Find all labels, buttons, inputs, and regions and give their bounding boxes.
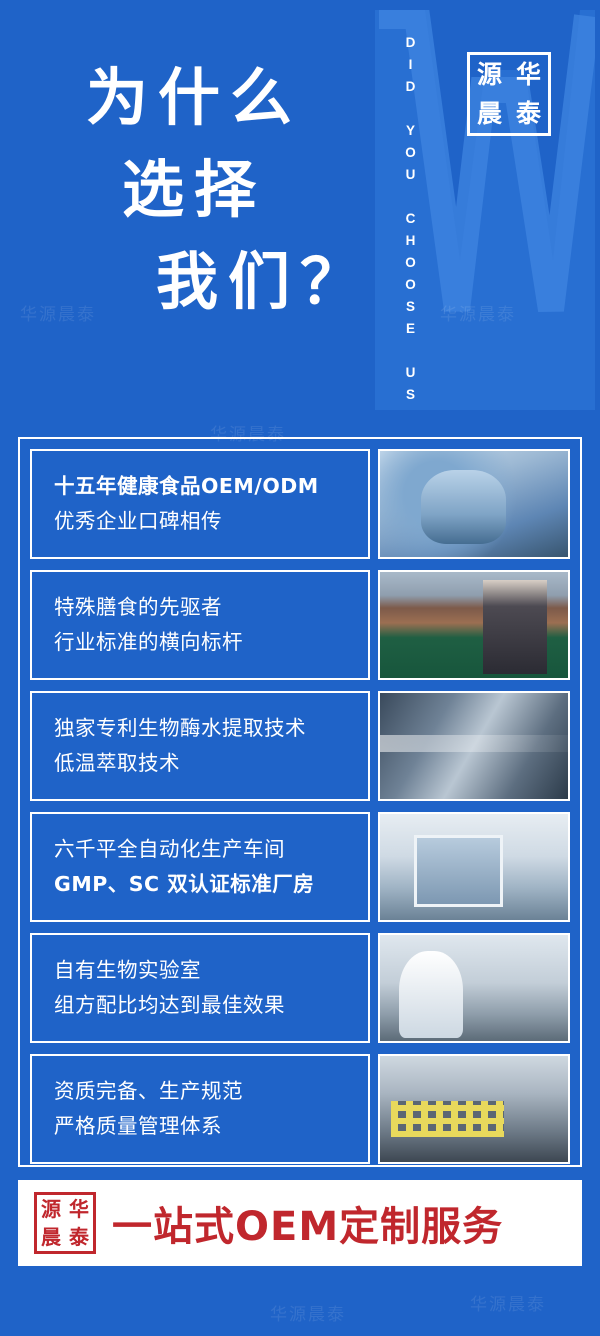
feature-row: 独家专利生物酶水提取技术 低温萃取技术	[30, 691, 570, 801]
seal-char-4: 泰	[516, 101, 541, 126]
vertical-char: Y	[398, 120, 424, 142]
feature-line-2: 优秀企业口碑相传	[54, 504, 368, 539]
vertical-char: O	[398, 274, 424, 296]
footer-banner: 华 源 晨 泰 一站式OEM定制服务	[18, 1180, 582, 1266]
vertical-char: E	[398, 318, 424, 340]
feature-text: 自有生物实验室 组方配比均达到最佳效果	[30, 933, 370, 1043]
photo-conference	[380, 572, 568, 678]
vertical-char: C	[398, 208, 424, 230]
page-title: 为什么 选择 我们？	[86, 52, 386, 327]
title-line-2: 选择	[122, 144, 386, 236]
features-panel: 十五年健康食品OEM/ODM 优秀企业口碑相传 特殊膳食的先驱者 行业标准的横向…	[18, 437, 582, 1167]
feature-line-2: 组方配比均达到最佳效果	[54, 988, 368, 1023]
feature-line-2: 低温萃取技术	[54, 746, 368, 781]
feature-row: 自有生物实验室 组方配比均达到最佳效果	[30, 933, 570, 1043]
vertical-char: O	[398, 142, 424, 164]
vertical-char: U	[398, 362, 424, 384]
feature-photo	[378, 570, 570, 680]
feature-line-1: 自有生物实验室	[54, 953, 368, 988]
seal-char-2: 源	[477, 62, 502, 87]
title-line-1: 为什么	[86, 52, 386, 144]
photo-biology-lab	[380, 935, 568, 1041]
feature-text: 十五年健康食品OEM/ODM 优秀企业口碑相传	[30, 449, 370, 559]
vertical-char: U	[398, 164, 424, 186]
feature-line-1: 十五年健康食品OEM/ODM	[54, 469, 368, 504]
feature-photo	[378, 449, 570, 559]
vertical-char: S	[398, 296, 424, 318]
vertical-char: D	[398, 76, 424, 98]
feature-line-2: 行业标准的横向标杆	[54, 625, 368, 660]
feature-line-1: 特殊膳食的先驱者	[54, 590, 368, 625]
photo-filling-line	[380, 693, 568, 799]
vertical-char	[398, 186, 424, 208]
vertical-char: I	[398, 54, 424, 76]
feature-text: 独家专利生物酶水提取技术 低温萃取技术	[30, 691, 370, 801]
watermark: 华源晨泰	[270, 1300, 346, 1325]
vertical-char: H	[398, 230, 424, 252]
watermark: 华源晨泰	[470, 1290, 546, 1315]
feature-row: 资质完备、生产规范 严格质量管理体系	[30, 1054, 570, 1164]
vertical-char	[398, 98, 424, 120]
poster-header: 为什么 选择 我们？ D I D Y O U C H O O S E U S 华	[0, 0, 600, 430]
vertical-char: S	[398, 384, 424, 406]
feature-text: 特殊膳食的先驱者 行业标准的横向标杆	[30, 570, 370, 680]
vertical-char: D	[398, 32, 424, 54]
brand-seal-logo: 华 源 晨 泰	[467, 52, 551, 136]
poster-root: 华源晨泰 华源晨泰 华源晨泰 华源晨泰 华源晨泰 华源晨泰 为什么 选择 我们？…	[0, 0, 600, 1336]
feature-text: 六千平全自动化生产车间 GMP、SC 双认证标准厂房	[30, 812, 370, 922]
footer-seal-char-1: 华	[69, 1199, 89, 1219]
title-line-3: 我们？	[156, 236, 386, 328]
seal-char-1: 华	[516, 62, 541, 87]
feature-photo	[378, 691, 570, 801]
seal-char-3: 晨	[477, 101, 502, 126]
feature-line-2: 严格质量管理体系	[54, 1109, 368, 1144]
feature-line-1: 六千平全自动化生产车间	[54, 832, 368, 867]
photo-capsule-packing	[380, 1056, 568, 1162]
feature-row: 特殊膳食的先驱者 行业标准的横向标杆	[30, 570, 570, 680]
vertical-char: O	[398, 252, 424, 274]
footer-seal-char-3: 晨	[41, 1227, 61, 1247]
feature-photo	[378, 933, 570, 1043]
vertical-char	[398, 340, 424, 362]
feature-text: 资质完备、生产规范 严格质量管理体系	[30, 1054, 370, 1164]
feature-row: 六千平全自动化生产车间 GMP、SC 双认证标准厂房	[30, 812, 570, 922]
feature-photo	[378, 812, 570, 922]
feature-photo	[378, 1054, 570, 1164]
vertical-english-caption: D I D Y O U C H O O S E U S	[398, 32, 424, 406]
photo-lab-testing	[380, 451, 568, 557]
photo-clean-workshop	[380, 814, 568, 920]
feature-line-1: 独家专利生物酶水提取技术	[54, 711, 368, 746]
feature-line-1: 资质完备、生产规范	[54, 1074, 368, 1109]
footer-seal-char-2: 源	[41, 1199, 61, 1219]
feature-row: 十五年健康食品OEM/ODM 优秀企业口碑相传	[30, 449, 570, 559]
footer-seal-char-4: 泰	[69, 1227, 89, 1247]
feature-line-2: GMP、SC 双认证标准厂房	[54, 867, 368, 902]
footer-slogan: 一站式OEM定制服务	[112, 1194, 503, 1252]
footer-seal-logo: 华 源 晨 泰	[34, 1192, 96, 1254]
